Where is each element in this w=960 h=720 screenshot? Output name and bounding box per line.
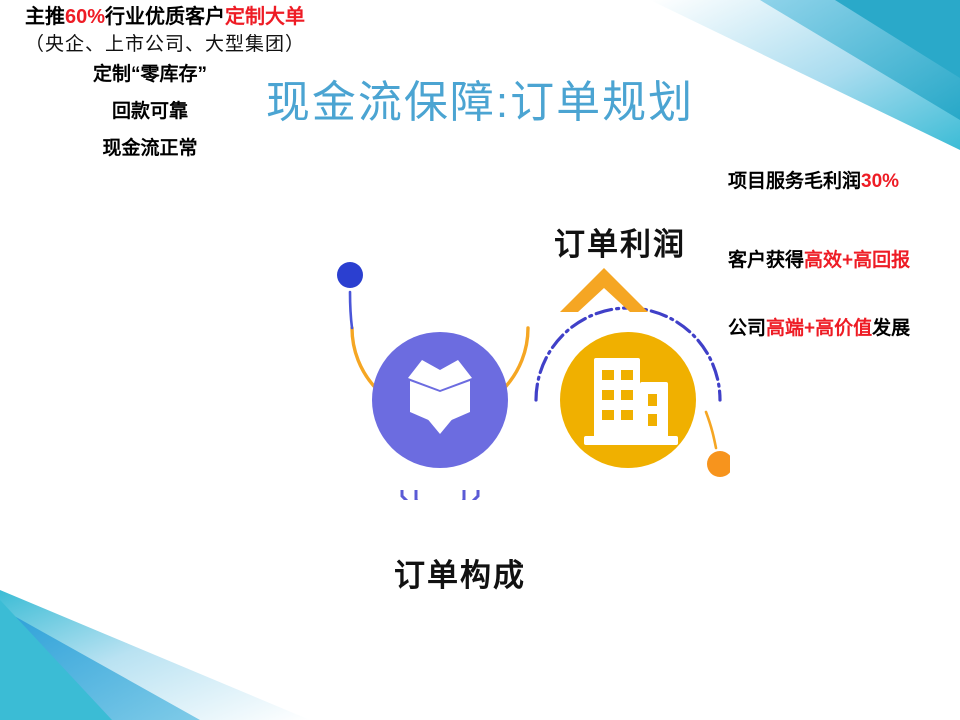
chevron-down-icon (402, 490, 478, 500)
left-headline: 主推60%行业优质客户定制大单 (0, 0, 330, 29)
left-subtitle: （央企、上市公司、大型集团） (0, 29, 330, 56)
right-line-3-plus: + (804, 318, 815, 339)
left-headline-seg3: 行业优质客户 (105, 6, 225, 28)
chevron-up-icon (560, 268, 648, 312)
corner-band-dark (0, 600, 112, 720)
right-line-2-plus: + (842, 250, 853, 271)
blue-dot-tail (350, 292, 352, 328)
right-line-3-highlight-a: 高端 (766, 318, 804, 339)
chevron-down-inner-icon (416, 490, 464, 500)
right-line-1-highlight: 30% (861, 171, 899, 192)
diagram-bottom-label: 订单构成 (330, 550, 590, 595)
right-line-2: 客户获得高效+高回报 (728, 245, 910, 272)
slide-canvas: 现金流保障:订单规划 主推60%行业优质客户定制大单 （央企、上市公司、大型集团… (0, 0, 960, 720)
right-line-3-seg1: 公司 (728, 318, 766, 339)
blue-dot (337, 262, 363, 288)
left-headline-seg4: 定制大单 (225, 6, 305, 28)
right-line-3-highlight-b: 高价值 (815, 318, 872, 339)
orange-dot (707, 451, 730, 477)
corner-band-mid (0, 608, 200, 720)
right-line-3: 公司高端+高价值发展 (728, 313, 910, 340)
orange-dot-tail (706, 412, 716, 448)
diagram-top-label: 订单利润 (490, 219, 750, 264)
right-line-1-seg1: 项目服务毛利润 (728, 171, 861, 192)
right-line-2-highlight-a: 高效 (804, 250, 842, 271)
left-headline-seg1: 主推 (25, 6, 65, 28)
bottom-left-corner-decoration (0, 570, 330, 720)
page-title: 现金流保障:订单规划 (0, 66, 960, 130)
right-line-3-seg5: 发展 (872, 318, 910, 339)
right-line-1: 项目服务毛利润30% (728, 166, 899, 193)
left-headline-percent: 60% (65, 6, 105, 28)
corner-band-light (0, 590, 310, 720)
right-line-2-highlight-b: 高回报 (853, 250, 910, 271)
list-item: 现金流正常 (0, 130, 300, 167)
